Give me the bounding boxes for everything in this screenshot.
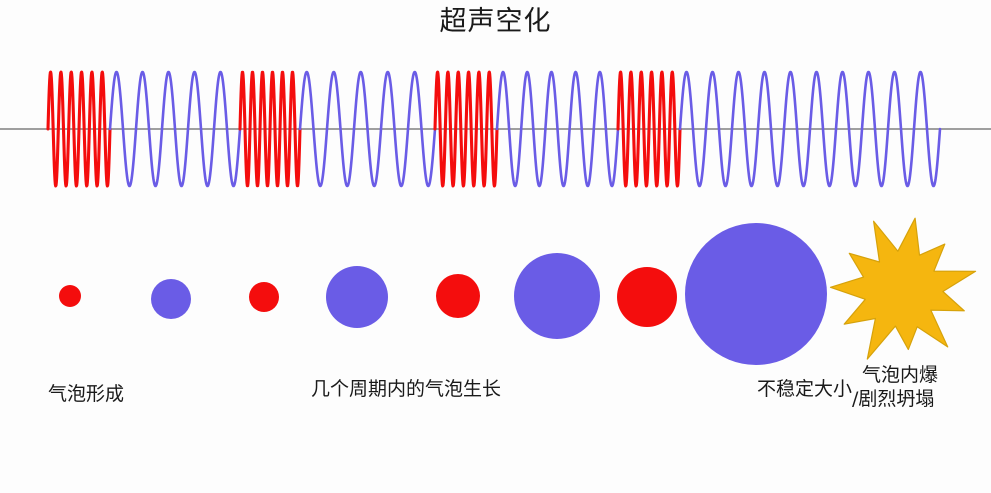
bubble-5-red	[436, 274, 480, 318]
bubble-3-red	[249, 282, 279, 312]
caption-implosion-line2: /剧烈坍塌	[852, 388, 938, 412]
ultrasonic-cavitation-diagram	[0, 0, 991, 493]
bubble-6-purple	[514, 253, 600, 339]
bubble-2-purple	[151, 279, 191, 319]
bubble-1-red	[59, 285, 81, 307]
caption-bubble-formation: 气泡形成	[48, 383, 124, 407]
caption-bubble-growth: 几个周期内的气泡生长	[311, 378, 501, 402]
caption-unstable-size: 不稳定大小	[757, 378, 852, 402]
caption-implosion-line1: 气泡内爆	[862, 364, 938, 386]
bubble-7-red	[617, 267, 677, 327]
page-title: 超声空化	[0, 6, 991, 38]
bubble-4-purple	[326, 266, 388, 328]
bubble-8-purple	[685, 223, 827, 365]
caption-bubble-implosion: 气泡内爆 /剧烈坍塌	[862, 364, 938, 412]
